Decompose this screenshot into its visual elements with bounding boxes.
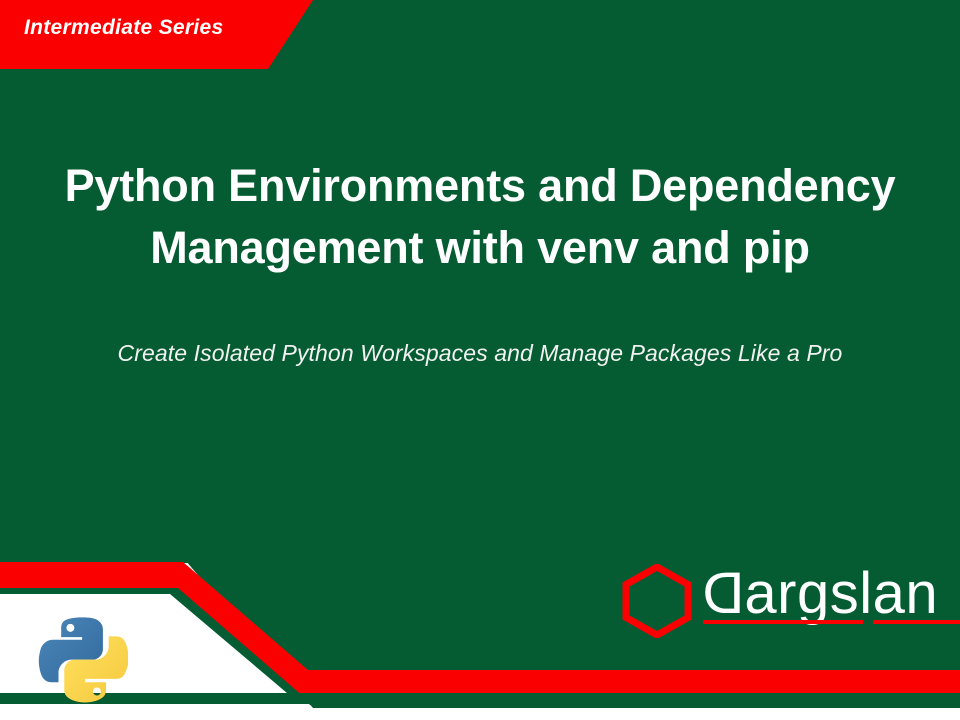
bottom-green-strip (0, 693, 960, 704)
brand-underline-left (703, 620, 863, 624)
page-title-line-2: Management with venv and pip (0, 217, 960, 279)
hexagon-icon (622, 564, 692, 638)
brand-underline-right (873, 620, 960, 624)
page-title: Python Environments and Dependency Manag… (0, 155, 960, 279)
page-subtitle: Create Isolated Python Workspaces and Ma… (0, 340, 960, 367)
series-badge-label: Intermediate Series (24, 16, 223, 40)
page-title-line-1: Python Environments and Dependency (0, 155, 960, 217)
brand-logo: Dargslan (618, 558, 928, 644)
presentation-slide: Intermediate Series Python Environments … (0, 0, 960, 720)
python-logo (36, 612, 128, 704)
brand-name-rest: argslan (744, 561, 938, 626)
